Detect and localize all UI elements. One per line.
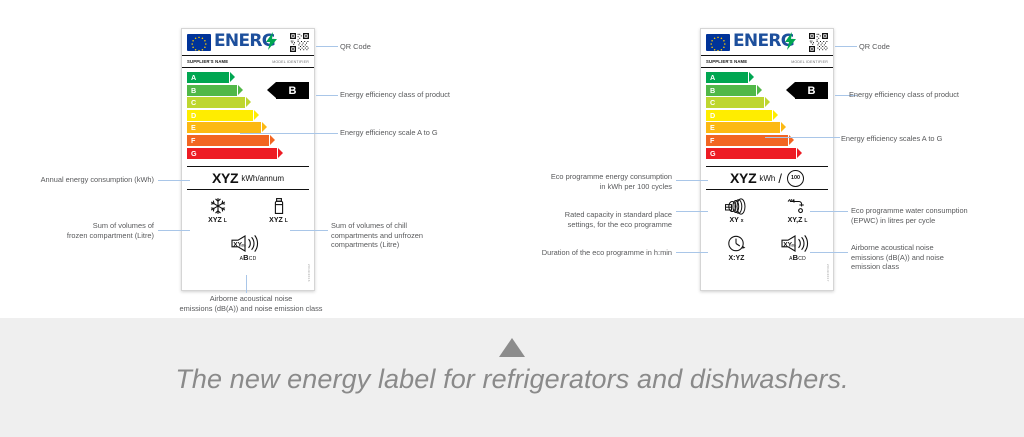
leader-line (246, 275, 247, 293)
eu-stars (706, 34, 730, 51)
svg-text:dB: dB (241, 242, 246, 247)
noise-emission-class: ABCD (240, 253, 257, 262)
frozen-volume-cell: XYZ L (187, 197, 248, 224)
grade-row: G (706, 148, 828, 159)
faucet-icon (787, 198, 809, 215)
grade-row: E (187, 122, 309, 133)
bottle-icon (270, 197, 288, 215)
leader-line (676, 252, 708, 253)
grade-bar-g: G (706, 148, 796, 159)
noise-emission-class: ABCD (789, 253, 806, 262)
chill-volume-value: XYZ L (269, 217, 288, 224)
rated-capacity-cell: XY x (706, 198, 767, 224)
annual-consumption-row: XYZ kWh/annum (187, 166, 309, 190)
annotation-energy-class-fridge: Energy efficiency class of product (340, 90, 500, 100)
leader-line (290, 230, 328, 231)
consumption-value: XYZ (730, 170, 756, 186)
annotation-qr-code-dish: QR Code (859, 42, 979, 52)
lightning-bolt-icon (266, 32, 277, 50)
leader-line (158, 180, 190, 181)
leader-line (676, 211, 708, 212)
capacity-water-row: XY x XY,Z L (706, 194, 828, 224)
noise-cell: XY dB ABCD (767, 235, 828, 262)
supplier-name: SUPPLIER'S NAME (187, 59, 228, 64)
annotation-annual-consumption: Annual energy consumption (kWh) (20, 175, 154, 185)
duration-noise-row: X:YZ XY dB ABCD (706, 228, 828, 262)
grade-row: D (706, 110, 828, 121)
grade-bar-a: A (706, 72, 748, 83)
grade-bar-e: E (706, 122, 780, 133)
supplier-model-row: SUPPLIER'S NAME MODEL IDENTIFIER (182, 55, 314, 68)
energy-class-badge: B (795, 82, 828, 99)
grade-bar-d: D (706, 110, 772, 121)
energy-class-badge: B (276, 82, 309, 99)
leader-line (240, 133, 338, 134)
eu-flag-icon (187, 34, 211, 51)
leader-line (676, 180, 708, 181)
label-header: ENERG (182, 29, 314, 55)
grade-row: E (706, 122, 828, 133)
cycles-badge-icon: 100 (787, 170, 804, 187)
speaker-icon: XY dB (781, 235, 815, 252)
triangle-up-icon (499, 338, 525, 357)
annotation-duration: Duration of the eco programme in h:min (520, 248, 672, 258)
qr-code-icon[interactable] (809, 33, 828, 52)
grade-bar-f: F (187, 135, 269, 146)
noise-row: XY dB ABCD (187, 228, 309, 262)
grade-bar-a: A (187, 72, 229, 83)
grade-bar-d: D (187, 110, 253, 121)
regulation-code: 2019/2017 (826, 264, 830, 282)
grade-bar-g: G (187, 148, 277, 159)
caption-text: The new energy label for refrigerators a… (0, 364, 1024, 395)
eco-consumption-row: XYZ kWh / 100 (706, 166, 828, 190)
supplier-model-row: SUPPLIER'S NAME MODEL IDENTIFIER (701, 55, 833, 68)
label-header: ENERG (701, 29, 833, 55)
icon-grid: XYZ L XYZ L (182, 190, 314, 262)
clock-icon (727, 234, 747, 253)
grade-row: D (187, 110, 309, 121)
leader-line (810, 211, 848, 212)
grade-row: F (187, 135, 309, 146)
annotation-water-consumption: Eco programme water consumption (EPWC) i… (851, 206, 996, 225)
volumes-row: XYZ L XYZ L (187, 194, 309, 224)
grade-bar-c: C (187, 97, 245, 108)
annotation-eco-consumption: Eco programme energy consumption in kWh … (540, 172, 672, 191)
annotation-rated-capacity: Rated capacity in standard place setting… (540, 210, 672, 229)
grade-bar-b: B (187, 85, 237, 96)
annotation-noise-fridge: Airborne acoustical noise emissions (dB(… (156, 294, 346, 313)
grade-bar-e: E (187, 122, 261, 133)
leader-line (316, 46, 338, 47)
annotation-qr-code-fridge: QR Code (340, 42, 460, 52)
chill-volume-cell: XYZ L (248, 197, 309, 224)
annotation-frozen-volume: Sum of volumes of frozen compartment (Li… (20, 221, 154, 240)
eu-flag-icon (706, 34, 730, 51)
energy-label-refrigerator: ENERG (181, 28, 315, 291)
slash-divider: / (778, 171, 782, 186)
consumption-value: XYZ (212, 170, 238, 186)
frozen-volume-value: XYZ L (208, 217, 227, 224)
noise-cell: XY dB ABCD (231, 235, 265, 262)
lightning-bolt-icon (785, 32, 796, 50)
supplier-name: SUPPLIER'S NAME (706, 59, 747, 64)
leader-line (765, 137, 840, 138)
water-consumption-value: XY,Z L (788, 217, 808, 224)
annotation-scale-fridge: Energy efficiency scale A to G (340, 128, 490, 138)
annotation-scale-dish: Energy efficiency scales A to G (841, 134, 1006, 144)
consumption-unit: kWh/annum (241, 174, 284, 183)
qr-code-icon[interactable] (290, 33, 309, 52)
plates-icon (724, 198, 750, 215)
annotation-chill-volume: Sum of volumes of chill compartments and… (331, 221, 451, 250)
leader-line (835, 46, 857, 47)
speaker-icon: XY dB (231, 235, 265, 252)
energy-efficiency-scale: A B C D E F G B (182, 68, 314, 164)
leader-line (316, 95, 338, 96)
duration-cell: X:YZ (706, 234, 767, 262)
grade-bar-c: C (706, 97, 764, 108)
leader-line (810, 252, 848, 253)
annotation-energy-class-dish: Energy efficiency class of product (849, 90, 1019, 100)
model-identifier: MODEL IDENTIFIER (791, 60, 828, 64)
duration-value: X:YZ (729, 255, 745, 262)
leader-line (158, 230, 190, 231)
eu-stars (187, 34, 211, 51)
grade-row: G (187, 148, 309, 159)
energy-efficiency-scale: A B C D E F G B (701, 68, 833, 164)
regulation-code: 2019/2016 (307, 264, 311, 282)
rated-capacity-value: XY x (729, 217, 743, 224)
snowflake-icon (209, 197, 227, 215)
svg-text:dB: dB (791, 242, 796, 247)
grade-bar-b: B (706, 85, 756, 96)
model-identifier: MODEL IDENTIFIER (272, 60, 309, 64)
annotation-noise-dish: Airborne acoustical noise emissions (dB(… (851, 243, 986, 272)
consumption-unit: kWh (759, 174, 775, 183)
